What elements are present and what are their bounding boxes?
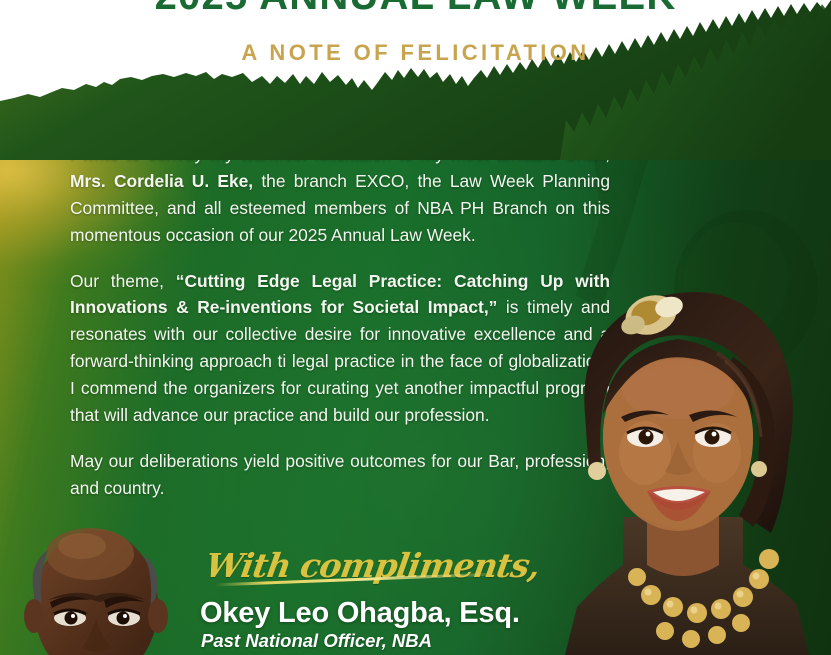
letter-paragraph-1: I write to convey my warmest felicitatio… <box>70 141 610 249</box>
letter-paragraph-2: Our theme, “Cutting Edge Legal Practice:… <box>70 268 610 429</box>
felicitation-poster: 2025 ANNUAL LAW WEEK A NOTE OF FELICITAT… <box>0 0 831 655</box>
header-white-band <box>0 0 831 140</box>
page-subtitle: A NOTE OF FELICITATION <box>0 40 831 66</box>
para1-bold-name: Mrs. Cordelia U. Eke, <box>70 171 253 191</box>
page-title: 2025 ANNUAL LAW WEEK <box>0 0 831 19</box>
para2-part-a: Our theme, <box>70 271 176 291</box>
signatory-role: Past National Officer, NBA <box>201 630 432 652</box>
letter-paragraph-3: May our deliberations yield positive out… <box>70 448 610 502</box>
letter-body: I write to convey my warmest felicitatio… <box>70 141 610 502</box>
signature-script: With compliments, <box>203 546 542 585</box>
para1-part-a: I write to convey my warmest felicitatio… <box>70 144 610 164</box>
signatory-name: Okey Leo Ohagba, Esq. <box>200 597 520 630</box>
